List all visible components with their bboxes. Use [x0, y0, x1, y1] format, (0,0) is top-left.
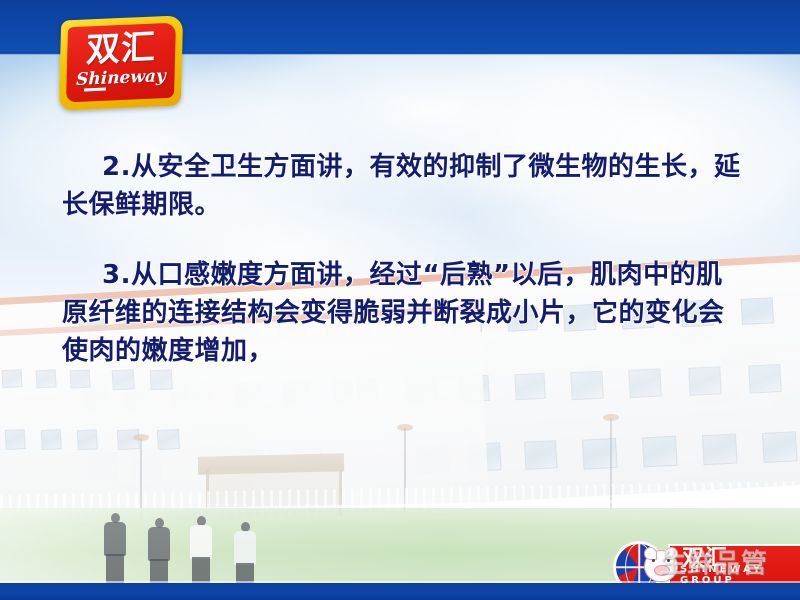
- paragraph-2-text: 2.从安全卫生方面讲，有效的抑制了微生物的生长，延长保鲜期限。: [62, 152, 740, 220]
- paragraph-2: 2.从安全卫生方面讲，有效的抑制了微生物的生长，延长保鲜期限。: [62, 148, 742, 224]
- watermark-overlay-text: 生鲜品管: [660, 542, 800, 586]
- logo-chinese-text: 双汇: [60, 29, 183, 68]
- pig-ear-left: [644, 547, 657, 560]
- shineway-flag-logo: 双汇 Shineway: [60, 18, 182, 108]
- pig-eye-left: [652, 559, 655, 562]
- paragraph-3: 3.从口感嫩度方面讲，经过“后熟”以后，肌肉中的肌原纤维的连接结构会变得脆弱并断…: [62, 256, 742, 370]
- presentation-slide: 双汇 Shineway 2.从安全卫生方面讲，有效的抑制了微生物的生长，延长保鲜…: [0, 0, 800, 600]
- paragraph-3-text: 3.从口感嫩度方面讲，经过“后熟”以后，肌肉中的肌原纤维的连接结构会变得脆弱并断…: [62, 260, 725, 366]
